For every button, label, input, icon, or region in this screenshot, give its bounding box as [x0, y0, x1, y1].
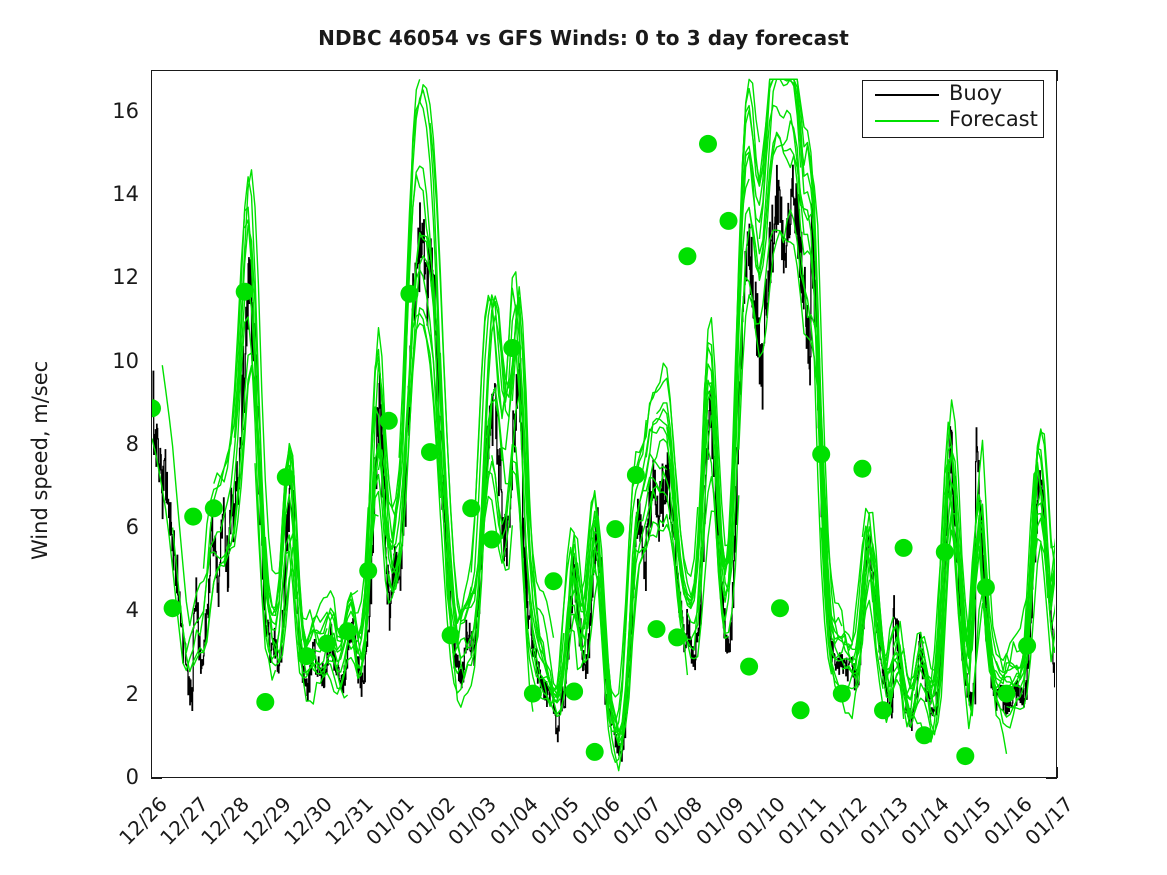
data-point-marker — [586, 743, 604, 761]
data-point-marker — [462, 499, 480, 517]
data-point-marker — [205, 499, 223, 517]
data-point-marker — [720, 212, 738, 230]
data-point-marker — [895, 539, 913, 557]
y-tick-label: 0 — [93, 767, 139, 788]
y-tick-label: 4 — [93, 600, 139, 621]
legend-swatch-buoy — [875, 94, 939, 96]
data-point-marker — [524, 685, 542, 703]
data-point-marker — [421, 443, 439, 461]
data-point-marker — [318, 635, 336, 653]
data-point-marker — [771, 599, 789, 617]
data-point-marker — [648, 620, 666, 638]
legend-swatch-forecast — [875, 120, 939, 122]
y-tick-label: 16 — [93, 101, 139, 122]
data-point-marker — [297, 647, 315, 665]
x-tick-mark — [1057, 767, 1058, 778]
data-point-marker — [236, 283, 254, 301]
data-point-marker — [1018, 637, 1036, 655]
data-point-marker — [164, 599, 182, 617]
y-tick-mark — [151, 778, 162, 779]
data-point-marker — [812, 445, 830, 463]
data-point-marker — [380, 412, 398, 430]
data-point-marker — [668, 628, 686, 646]
data-point-marker — [503, 339, 521, 357]
data-point-marker — [699, 135, 717, 153]
series-canvas — [152, 71, 1055, 776]
data-point-marker — [627, 466, 645, 484]
y-tick-mark-right — [1046, 778, 1057, 779]
data-point-marker — [277, 468, 295, 486]
data-point-marker — [956, 747, 974, 765]
data-point-marker — [400, 285, 418, 303]
legend-label-forecast: Forecast — [949, 107, 1038, 131]
data-point-marker — [152, 399, 161, 417]
forecast-series — [152, 79, 1055, 770]
y-tick-label: 2 — [93, 684, 139, 705]
forecast-trace — [337, 90, 461, 674]
legend-label-buoy: Buoy — [949, 81, 1002, 105]
chart-title: NDBC 46054 vs GFS Winds: 0 to 3 day fore… — [0, 26, 1167, 50]
y-axis-label: Wind speed, m/sec — [28, 361, 52, 560]
data-point-marker — [833, 685, 851, 703]
data-point-marker — [874, 701, 892, 719]
data-point-marker — [977, 578, 995, 596]
data-point-marker — [339, 622, 357, 640]
data-point-marker — [545, 572, 563, 590]
y-tick-label: 12 — [93, 267, 139, 288]
y-tick-label: 14 — [93, 184, 139, 205]
data-point-marker — [792, 701, 810, 719]
data-point-marker — [740, 658, 758, 676]
legend-entry-buoy: Buoy — [863, 83, 1043, 107]
data-point-marker — [256, 693, 274, 711]
y-tick-label: 10 — [93, 351, 139, 372]
data-point-marker — [565, 683, 583, 701]
data-point-marker — [483, 531, 501, 549]
data-point-marker — [606, 520, 624, 538]
x-tick-mark-top — [1057, 70, 1058, 81]
data-point-marker — [998, 685, 1016, 703]
legend: Buoy Forecast — [862, 80, 1044, 138]
data-point-marker — [853, 460, 871, 478]
data-point-marker — [359, 562, 377, 580]
y-tick-label: 6 — [93, 517, 139, 538]
chart-page: NDBC 46054 vs GFS Winds: 0 to 3 day fore… — [0, 0, 1167, 875]
y-tick-label: 8 — [93, 434, 139, 455]
legend-entry-forecast: Forecast — [863, 109, 1043, 133]
data-point-marker — [678, 247, 696, 265]
forecast-trace — [214, 177, 337, 665]
data-point-marker — [442, 626, 460, 644]
plot-canvas — [152, 71, 1056, 777]
data-point-marker — [915, 726, 933, 744]
plot-area — [151, 70, 1057, 778]
data-point-marker — [184, 508, 202, 526]
data-point-marker — [936, 543, 954, 561]
